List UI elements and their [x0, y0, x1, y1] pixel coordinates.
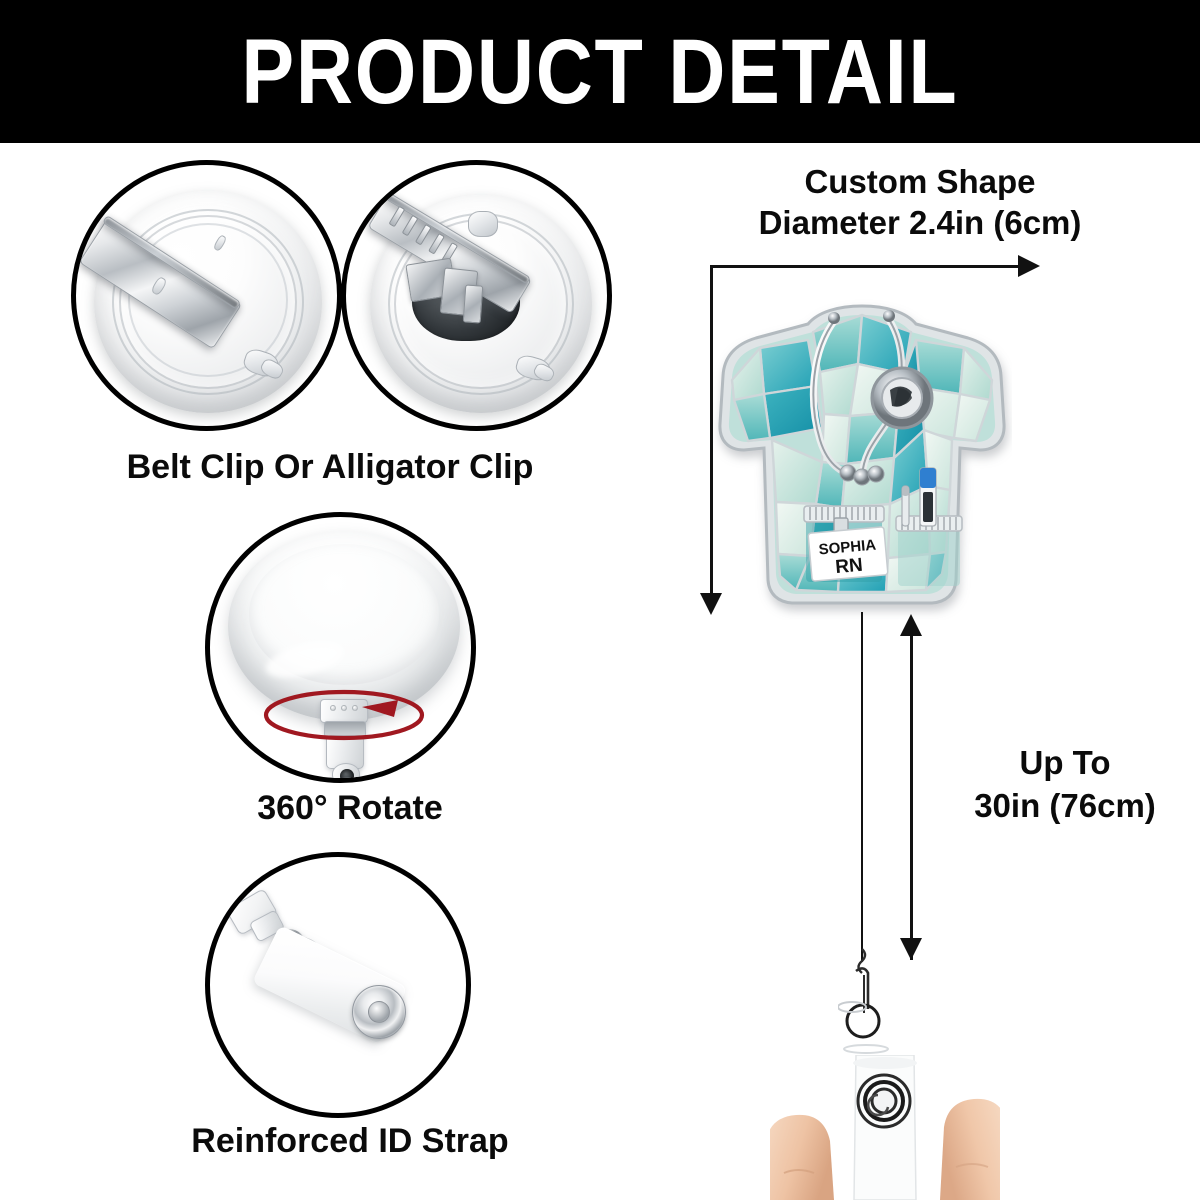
cord-length-label-line2: 30in (76cm) — [930, 788, 1200, 825]
custom-shape-label-line2: Diameter 2.4in (6cm) — [640, 205, 1200, 242]
header-banner: PRODUCT DETAIL — [0, 0, 1200, 143]
retractable-cord — [861, 612, 863, 962]
rotate-arrow-icon — [210, 517, 476, 783]
caption-id-strap: Reinforced ID Strap — [0, 1122, 700, 1160]
nurse-scrubs-badge-reel: SOPHIA RN — [712, 290, 1012, 620]
alligator-clip-photo — [341, 160, 612, 431]
fingers-holding-strap — [770, 1055, 1000, 1200]
cord-length-label-line1: Up To — [930, 745, 1200, 782]
custom-shape-label-line1: Custom Shape — [640, 164, 1200, 201]
cord-hook-icon — [838, 945, 908, 1065]
belt-clip-photo — [71, 160, 342, 431]
width-dimension-line — [710, 265, 1022, 268]
badge-title-text: RN — [835, 555, 864, 578]
page-title: PRODUCT DETAIL — [241, 26, 958, 118]
caption-rotate: 360° Rotate — [0, 789, 700, 827]
rotate-photo — [205, 512, 476, 783]
caption-belt-clip: Belt Clip Or Alligator Clip — [0, 448, 660, 486]
length-arrowhead-up-icon — [900, 614, 922, 636]
id-strap-photo — [205, 852, 471, 1118]
product-detail-infographic: PRODUCT DETAIL — [0, 0, 1200, 1200]
name-badge: SOPHIA RN — [808, 527, 888, 581]
length-arrowhead-down-icon — [900, 938, 922, 960]
length-dimension-line — [910, 618, 913, 960]
width-arrowhead-icon — [1018, 255, 1040, 277]
strap-snap — [352, 985, 406, 1039]
